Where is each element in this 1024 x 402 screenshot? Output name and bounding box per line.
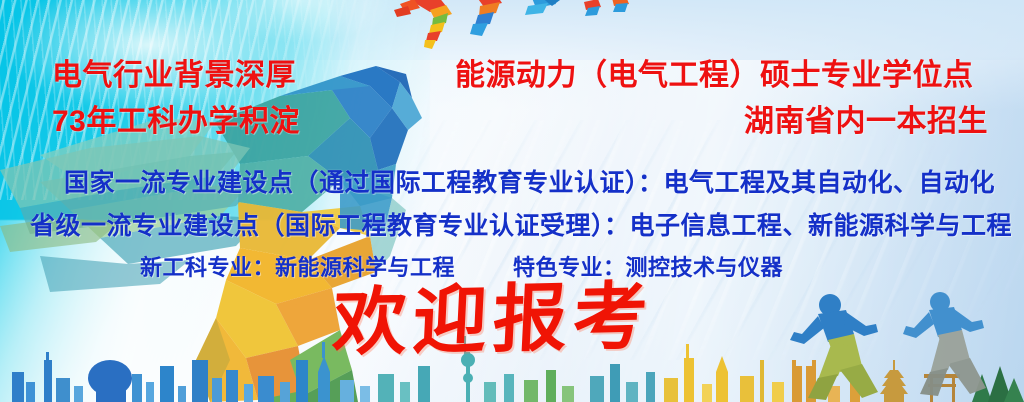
headline-red-2: 73年工科办学积淀 bbox=[52, 96, 300, 140]
headline-red-1: 电气行业背景深厚 bbox=[52, 50, 296, 94]
program-line-provincial: 省级一流专业建设点（国际工程教育专业认证受理）：电子信息工程、新能源科学与工程 bbox=[30, 206, 1012, 242]
two-running-figures bbox=[754, 292, 1014, 402]
program-line-national: 国家一流专业建设点（通过国际工程教育专业认证）：电气工程及其自动化、自动化 bbox=[64, 163, 995, 199]
welcome-calligraphy: 欢迎报考 bbox=[331, 280, 655, 361]
new-engineering-major-label: 新工科专业：新能源科学与工程 bbox=[140, 255, 455, 280]
recruitment-banner: 电气行业背景深厚 73年工科办学积淀 能源动力（电气工程）硕士专业学位点 湖南省… bbox=[0, 0, 1024, 402]
headline-red-3: 能源动力（电气工程）硕士专业学位点 bbox=[455, 50, 974, 94]
headline-red-4: 湖南省内一本招生 bbox=[744, 96, 988, 140]
freestyle-skier-silhouettes bbox=[380, 0, 640, 54]
